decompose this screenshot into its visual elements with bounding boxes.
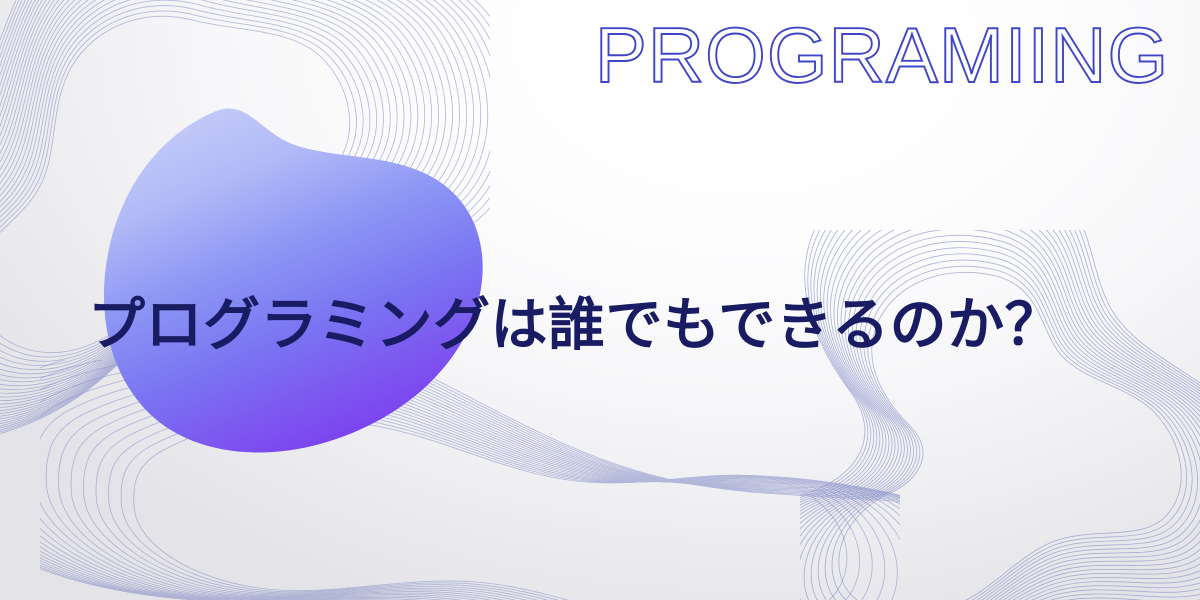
wordmark-text: PROGRAMIING [595,16,1169,99]
gradient-blob-shape [96,104,490,454]
page-title: プログラミングは誰でもできるのか？ [88,295,1148,358]
contour-lines-right-icon [800,230,1200,600]
wordmark-programming: PROGRAMIING [582,16,1182,102]
banner-canvas: PROGRAMIING プログラミングは誰でもできるのか？ [0,0,1200,600]
